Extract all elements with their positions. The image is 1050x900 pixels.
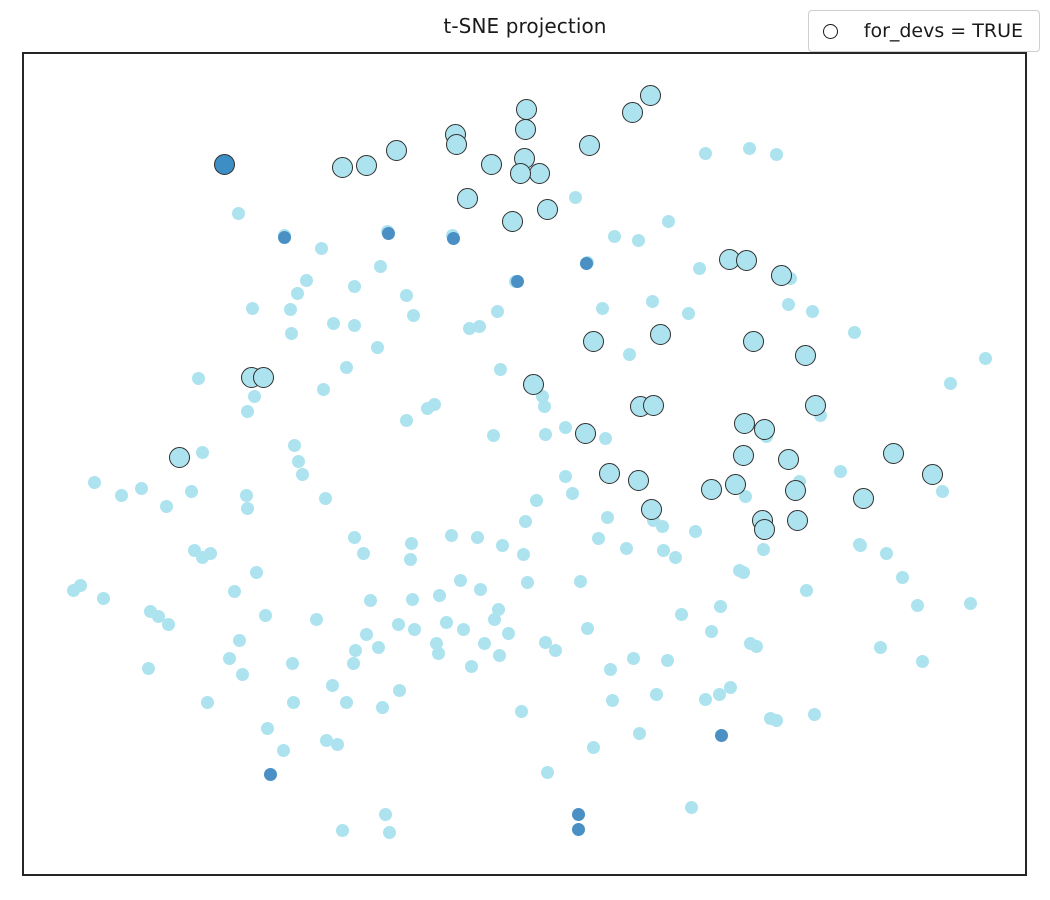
- scatter-point-highlighted: [537, 199, 558, 220]
- scatter-point: [623, 348, 636, 361]
- scatter-point: [964, 597, 977, 610]
- scatter-point: [834, 465, 847, 478]
- scatter-point: [142, 662, 155, 675]
- scatter-point-highlighted: [795, 345, 816, 366]
- scatter-point-highlighted: [332, 157, 353, 178]
- scatter-point: [743, 142, 756, 155]
- scatter-point-highlighted: [622, 102, 643, 123]
- scatter-point-highlighted: [169, 447, 190, 468]
- scatter-point: [808, 708, 821, 721]
- scatter-point: [291, 287, 304, 300]
- scatter-point: [539, 428, 552, 441]
- scatter-point: [599, 432, 612, 445]
- scatter-point-highlighted: [386, 140, 407, 161]
- scatter-point: [473, 320, 486, 333]
- scatter-point: [88, 476, 101, 489]
- scatter-point: [400, 289, 413, 302]
- scatter-point: [406, 593, 419, 606]
- scatter-point: [487, 429, 500, 442]
- scatter-point: [699, 693, 712, 706]
- scatter-point: [357, 547, 370, 560]
- scatter-point: [569, 191, 582, 204]
- scatter-point-highlighted: [529, 163, 550, 184]
- scatter-point: [440, 616, 453, 629]
- scatter-point: [496, 539, 509, 552]
- scatter-point: [471, 531, 484, 544]
- scatter-point: [944, 377, 957, 390]
- scatter-point: [115, 489, 128, 502]
- scatter-point: [241, 502, 254, 515]
- scatter-point: [382, 227, 395, 240]
- scatter-point: [185, 485, 198, 498]
- scatter-point: [196, 446, 209, 459]
- scatter-point-highlighted: [754, 519, 775, 540]
- scatter-point: [188, 544, 201, 557]
- scatter-point: [494, 363, 507, 376]
- scatter-point: [530, 494, 543, 507]
- scatter-point: [757, 543, 770, 556]
- scatter-point: [661, 654, 674, 667]
- scatter-point: [445, 529, 458, 542]
- scatter-point: [581, 622, 594, 635]
- scatter-point: [574, 575, 587, 588]
- scatter-point: [633, 727, 646, 740]
- scatter-point: [853, 538, 866, 551]
- scatter-points-layer: [24, 54, 1025, 874]
- scatter-point: [715, 729, 728, 742]
- scatter-point-highlighted: [214, 154, 235, 175]
- scatter-point: [596, 302, 609, 315]
- scatter-point: [580, 257, 593, 270]
- scatter-point: [236, 668, 249, 681]
- scatter-point-highlighted: [650, 324, 671, 345]
- scatter-point: [326, 679, 339, 692]
- scatter-point: [454, 574, 467, 587]
- scatter-point: [750, 640, 763, 653]
- scatter-point: [474, 583, 487, 596]
- scatter-point: [348, 531, 361, 544]
- scatter-point: [364, 594, 377, 607]
- scatter-point: [374, 260, 387, 273]
- scatter-point: [228, 585, 241, 598]
- scatter-point: [319, 492, 332, 505]
- scatter-point: [911, 599, 924, 612]
- scatter-point: [286, 657, 299, 670]
- scatter-point-highlighted: [502, 211, 523, 232]
- scatter-point-highlighted: [743, 331, 764, 352]
- scatter-point-highlighted: [640, 85, 661, 106]
- scatter-point: [97, 592, 110, 605]
- scatter-point: [457, 623, 470, 636]
- scatter-point: [300, 274, 313, 287]
- scatter-point: [407, 309, 420, 322]
- scatter-point-highlighted: [734, 413, 755, 434]
- scatter-point: [566, 487, 579, 500]
- scatter-point: [347, 657, 360, 670]
- scatter-point: [620, 542, 633, 555]
- scatter-point: [421, 402, 434, 415]
- scatter-point: [478, 637, 491, 650]
- scatter-point: [880, 547, 893, 560]
- scatter-point-highlighted: [725, 474, 746, 495]
- scatter-point: [936, 485, 949, 498]
- scatter-point: [541, 766, 554, 779]
- scatter-point: [737, 566, 750, 579]
- scatter-point: [336, 824, 349, 837]
- scatter-point: [287, 696, 300, 709]
- scatter-point: [233, 634, 246, 647]
- scatter-point: [806, 305, 819, 318]
- scatter-point: [327, 317, 340, 330]
- scatter-point-highlighted: [778, 449, 799, 470]
- scatter-point: [770, 148, 783, 161]
- scatter-point: [360, 628, 373, 641]
- scatter-point: [162, 618, 175, 631]
- legend-label-for-devs-true: for_devs = TRUE: [864, 20, 1023, 42]
- scatter-point-highlighted: [785, 480, 806, 501]
- scatter-point: [288, 439, 301, 452]
- scatter-point: [549, 644, 562, 657]
- scatter-point: [502, 627, 515, 640]
- scatter-point: [285, 327, 298, 340]
- scatter-point: [465, 660, 478, 673]
- scatter-point-highlighted: [641, 499, 662, 520]
- scatter-point: [259, 609, 272, 622]
- scatter-point-highlighted: [736, 250, 757, 271]
- scatter-point: [559, 470, 572, 483]
- scatter-point: [284, 303, 297, 316]
- open-circle-icon: [823, 24, 838, 39]
- scatter-point: [392, 618, 405, 631]
- scatter-point-highlighted: [853, 488, 874, 509]
- scatter-point: [800, 584, 813, 597]
- scatter-point: [714, 600, 727, 613]
- scatter-point: [685, 801, 698, 814]
- scatter-point: [493, 649, 506, 662]
- scatter-point: [317, 383, 330, 396]
- scatter-point-highlighted: [883, 443, 904, 464]
- scatter-point: [587, 741, 600, 754]
- scatter-point: [515, 705, 528, 718]
- tsne-scatter-figure: t-SNE projection for_devs = TRUE: [0, 0, 1050, 900]
- scatter-point: [559, 421, 572, 434]
- scatter-point: [348, 319, 361, 332]
- scatter-point: [204, 547, 217, 560]
- scatter-point: [606, 694, 619, 707]
- scatter-point-highlighted: [516, 99, 537, 120]
- scatter-point: [601, 511, 614, 524]
- scatter-point: [372, 641, 385, 654]
- scatter-point: [340, 696, 353, 709]
- scatter-point: [657, 544, 670, 557]
- scatter-point: [246, 302, 259, 315]
- scatter-point: [241, 405, 254, 418]
- scatter-point: [379, 808, 392, 821]
- scatter-point: [292, 455, 305, 468]
- scatter-point: [916, 655, 929, 668]
- scatter-point: [240, 489, 253, 502]
- scatter-point-highlighted: [523, 374, 544, 395]
- scatter-point-highlighted: [446, 134, 467, 155]
- scatter-point: [979, 352, 992, 365]
- scatter-point: [201, 696, 214, 709]
- scatter-point: [376, 701, 389, 714]
- scatter-point-highlighted: [643, 395, 664, 416]
- scatter-point: [408, 623, 421, 636]
- scatter-point: [675, 608, 688, 621]
- scatter-point: [669, 551, 682, 564]
- scatter-point: [693, 262, 706, 275]
- scatter-point-highlighted: [733, 445, 754, 466]
- scatter-point-highlighted: [701, 479, 722, 500]
- scatter-point: [393, 684, 406, 697]
- scatter-point: [447, 232, 460, 245]
- scatter-point-highlighted: [805, 395, 826, 416]
- scatter-point: [277, 744, 290, 757]
- scatter-point: [223, 652, 236, 665]
- scatter-point: [627, 652, 640, 665]
- scatter-point: [160, 500, 173, 513]
- scatter-point: [331, 738, 344, 751]
- scatter-point: [371, 341, 384, 354]
- scatter-point: [874, 641, 887, 654]
- scatter-point: [705, 625, 718, 638]
- scatter-point-highlighted: [771, 265, 792, 286]
- scatter-point: [135, 482, 148, 495]
- scatter-point: [404, 553, 417, 566]
- scatter-point: [315, 242, 328, 255]
- scatter-point: [400, 414, 413, 427]
- scatter-point: [604, 663, 617, 676]
- scatter-point: [405, 537, 418, 550]
- scatter-point: [592, 532, 605, 545]
- scatter-point: [724, 681, 737, 694]
- scatter-point-highlighted: [599, 463, 620, 484]
- scatter-point-highlighted: [253, 367, 274, 388]
- scatter-point: [608, 230, 621, 243]
- scatter-point: [656, 520, 669, 533]
- scatter-point: [278, 231, 291, 244]
- scatter-point: [430, 637, 443, 650]
- scatter-point: [632, 234, 645, 247]
- scatter-point: [848, 326, 861, 339]
- scatter-point-highlighted: [583, 331, 604, 352]
- scatter-point: [689, 525, 702, 538]
- scatter-point: [310, 613, 323, 626]
- scatter-point: [349, 644, 362, 657]
- legend: for_devs = TRUE: [808, 10, 1040, 52]
- scatter-point: [192, 372, 205, 385]
- scatter-point: [764, 712, 777, 725]
- scatter-point: [264, 768, 277, 781]
- scatter-point: [340, 361, 353, 374]
- scatter-point: [492, 603, 505, 616]
- scatter-point-highlighted: [510, 163, 531, 184]
- scatter-point: [896, 571, 909, 584]
- scatter-point: [572, 823, 585, 836]
- scatter-point: [232, 207, 245, 220]
- scatter-point: [650, 688, 663, 701]
- scatter-point-highlighted: [787, 510, 808, 531]
- scatter-point: [248, 390, 261, 403]
- scatter-point: [782, 298, 795, 311]
- scatter-point: [348, 280, 361, 293]
- scatter-point-highlighted: [575, 423, 596, 444]
- scatter-point: [296, 468, 309, 481]
- scatter-point: [682, 307, 695, 320]
- scatter-point: [511, 275, 524, 288]
- scatter-point-highlighted: [922, 464, 943, 485]
- scatter-point: [433, 589, 446, 602]
- scatter-point: [699, 147, 712, 160]
- scatter-point: [646, 295, 659, 308]
- plot-axes-frame: [22, 52, 1027, 876]
- scatter-point: [383, 826, 396, 839]
- scatter-point: [662, 215, 675, 228]
- scatter-point: [572, 808, 585, 821]
- scatter-point: [67, 584, 80, 597]
- scatter-point: [250, 566, 263, 579]
- scatter-point-highlighted: [515, 119, 536, 140]
- scatter-point: [491, 305, 504, 318]
- scatter-point: [517, 548, 530, 561]
- scatter-point: [519, 515, 532, 528]
- scatter-point: [521, 576, 534, 589]
- scatter-point-highlighted: [457, 188, 478, 209]
- scatter-point-highlighted: [754, 419, 775, 440]
- scatter-point-highlighted: [356, 155, 377, 176]
- scatter-point-highlighted: [579, 135, 600, 156]
- scatter-point-highlighted: [628, 470, 649, 491]
- scatter-point-highlighted: [481, 154, 502, 175]
- scatter-point: [261, 722, 274, 735]
